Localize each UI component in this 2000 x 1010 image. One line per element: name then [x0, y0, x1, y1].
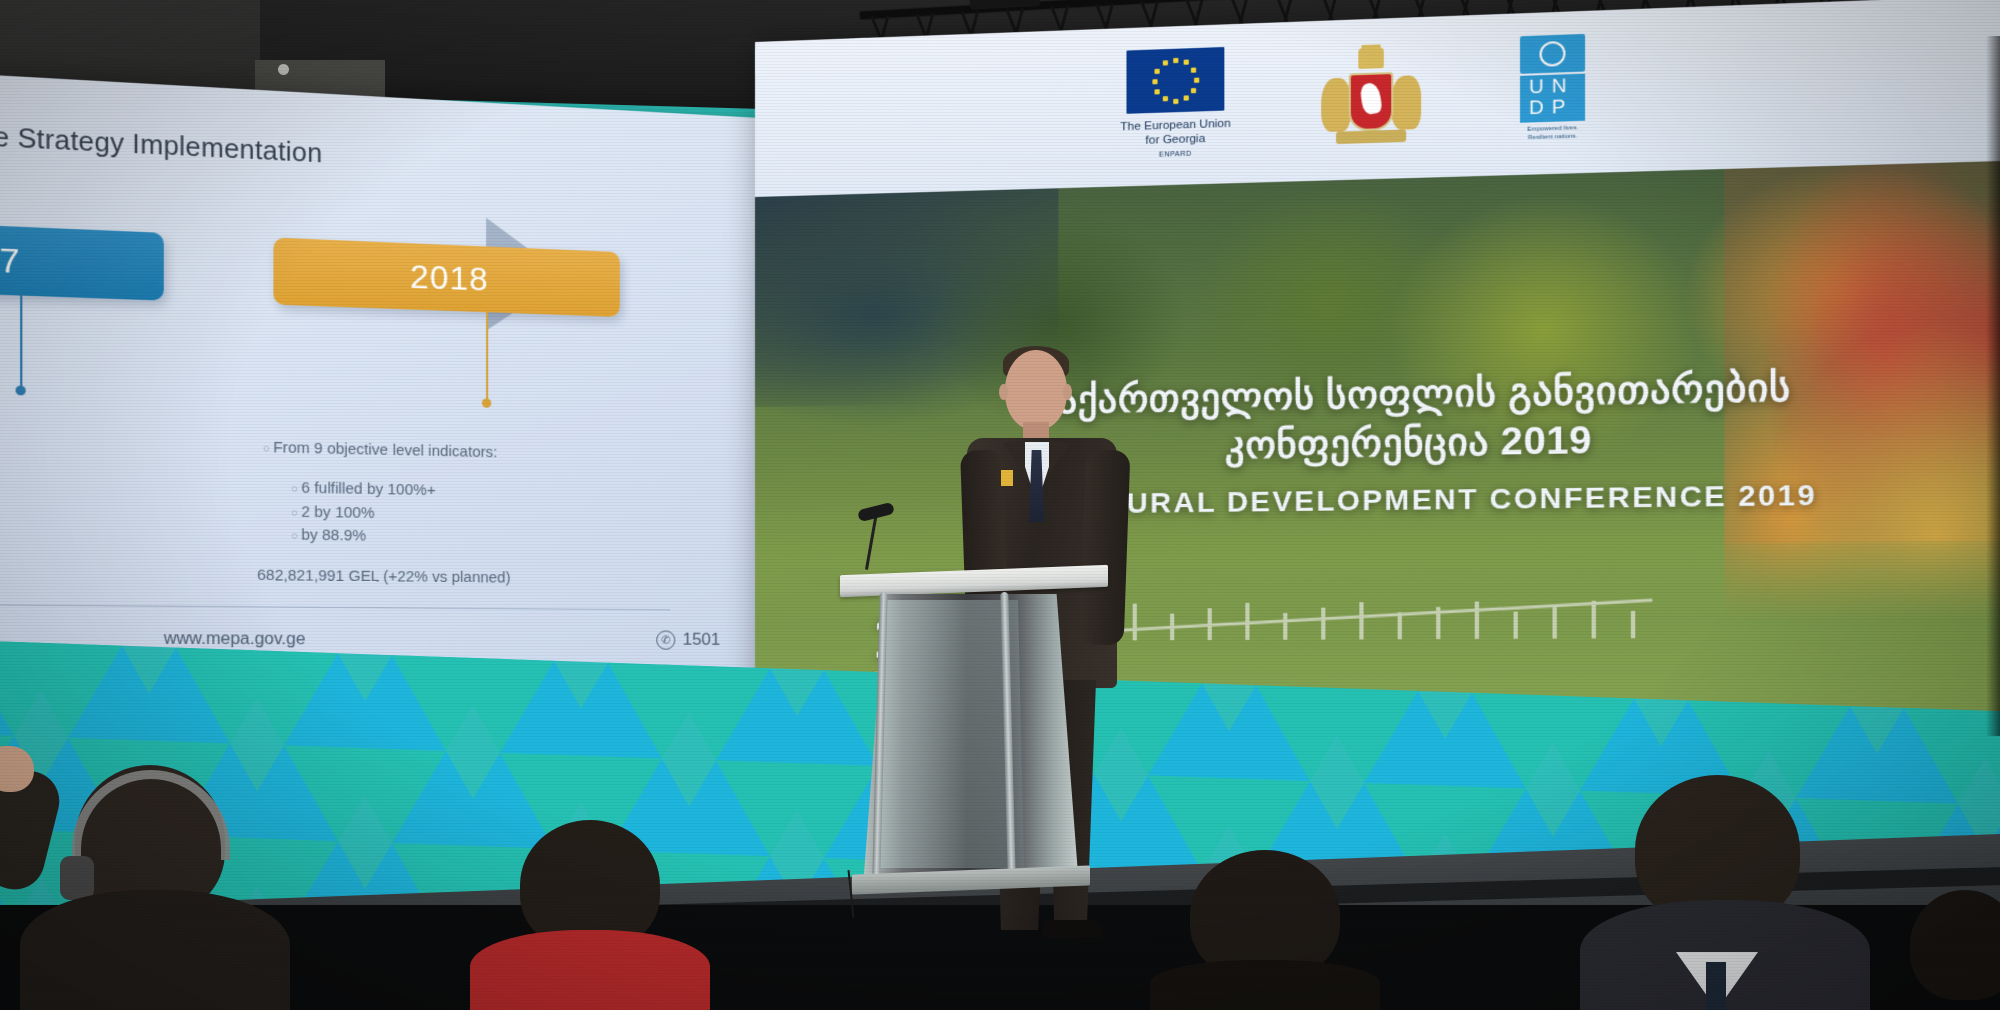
fence-post: [1514, 612, 1518, 639]
eu-star-icon: [1173, 57, 1178, 62]
undp-caption: Empowered lives. Resilient nations.: [1527, 125, 1578, 143]
undp-globe-icon: [1540, 41, 1566, 67]
right-column-2018: From 9 objective level indicators: 6 ful…: [263, 436, 661, 552]
eu-caption-line3: ENPARD: [1120, 149, 1231, 161]
fence-post: [1321, 608, 1325, 640]
lion-right-icon: [1391, 75, 1421, 130]
audience-member-headphones: [20, 780, 290, 1010]
right-column-item-2: by 88.9%: [291, 524, 660, 552]
fence-post: [1475, 601, 1479, 638]
stem-line-2017: [20, 296, 22, 388]
fence-post: [1398, 612, 1402, 639]
eu-star-icon: [1191, 67, 1196, 72]
logo-row: The European Union for Georgia ENPARD: [1120, 29, 1718, 178]
headphone-earcup: [60, 856, 94, 900]
undp-caption-line1: Empowered lives.: [1527, 125, 1578, 133]
audience-head: [1910, 890, 2000, 1000]
stem-line-2018: [486, 312, 488, 400]
coat-of-arms-icon: [1313, 40, 1430, 166]
lion-left-icon: [1321, 78, 1351, 133]
fence-post: [1592, 601, 1596, 639]
audience-member-center: [1150, 875, 1380, 1010]
audience-necktie: [1706, 962, 1726, 1010]
undp-letters: U N D P: [1520, 74, 1585, 123]
stem-dot-2017: [16, 386, 26, 396]
audience-shoulders: [20, 890, 290, 1010]
fence-post: [1208, 608, 1212, 640]
undp-mark: U N D P Empowered lives. Resilient natio…: [1514, 34, 1592, 144]
fence-rail: [1059, 599, 1653, 636]
crown-icon: [1358, 47, 1384, 69]
eu-logo: The European Union for Georgia ENPARD: [1120, 47, 1231, 162]
audience-member-right-edge: [1900, 890, 2000, 1010]
eu-star-icon: [1155, 89, 1160, 94]
eu-star-icon: [1183, 60, 1188, 65]
stem-dot-2018: [482, 398, 491, 407]
left-slide-panel: ults of the Strategy Implementation 2017…: [0, 71, 760, 678]
eu-caption-line2: for Georgia: [1145, 133, 1205, 147]
audience-member-red-shirt: [470, 835, 710, 1010]
phone-icon: ✆: [656, 630, 675, 649]
headphones-icon: [72, 770, 230, 860]
audience-member-suit: [1580, 790, 1870, 1010]
undp-logo: U N D P Empowered lives. Resilient natio…: [1514, 34, 1592, 144]
georgia-coat-of-arms-logo: [1313, 40, 1430, 166]
audience-shoulders: [470, 930, 710, 1010]
wooden-fence: [1058, 575, 1652, 641]
eu-star-icon: [1162, 96, 1167, 101]
screen-right-edge: [1986, 36, 2000, 736]
coat-of-arms-base: [1336, 129, 1406, 144]
speaker-podium: [840, 570, 1110, 935]
speaker-ear-right: [1063, 384, 1072, 400]
eu-star-icon: [1191, 87, 1196, 92]
audience-shoulders: [1150, 960, 1380, 1010]
conference-photo-scene: ults of the Strategy Implementation 2017…: [0, 0, 2000, 1010]
speaker-lapel-badge: [1001, 470, 1013, 486]
eu-star-icon: [1155, 68, 1160, 73]
budget-right-value: 682,821,991 GEL (+22% vs planned): [257, 567, 510, 586]
year-2017-label: 2017: [0, 238, 21, 281]
eu-star-icon: [1183, 95, 1188, 100]
fence-post: [1359, 602, 1363, 639]
eu-logo-caption: The European Union for Georgia ENPARD: [1120, 117, 1231, 162]
fence-post: [1631, 611, 1635, 638]
fence-post: [1436, 607, 1440, 639]
undp-caption-line2: Resilient nations.: [1528, 133, 1578, 141]
eu-star-icon: [1152, 79, 1157, 84]
undp-globe-panel: [1520, 34, 1585, 74]
eu-caption-line1: The European Union: [1120, 118, 1231, 134]
eu-star-icon: [1194, 77, 1199, 82]
fence-post: [1283, 613, 1287, 640]
eu-star-icon: [1173, 98, 1178, 103]
year-2018-label: 2018: [410, 257, 489, 298]
slide-phone-number: 1501: [683, 630, 721, 650]
left-slide-background: [0, 71, 760, 678]
year-pill-2018: 2018: [273, 237, 619, 316]
fence-post: [1245, 603, 1249, 640]
slide-phone: ✆ 1501: [656, 629, 720, 649]
speaker-ear-left: [999, 384, 1008, 400]
eu-flag-icon: [1127, 47, 1225, 114]
fence-post: [1552, 606, 1556, 638]
eu-star-icon: [1162, 60, 1167, 65]
fence-post: [1170, 614, 1174, 641]
speaker-head: [1005, 350, 1067, 430]
left-column-2017: level indicators: d by 100% or 100%+; d …: [0, 424, 219, 547]
left-column-item-0: d by 100% or 100%+;: [0, 467, 219, 499]
slide-website: www.mepa.gov.ge: [164, 630, 306, 650]
